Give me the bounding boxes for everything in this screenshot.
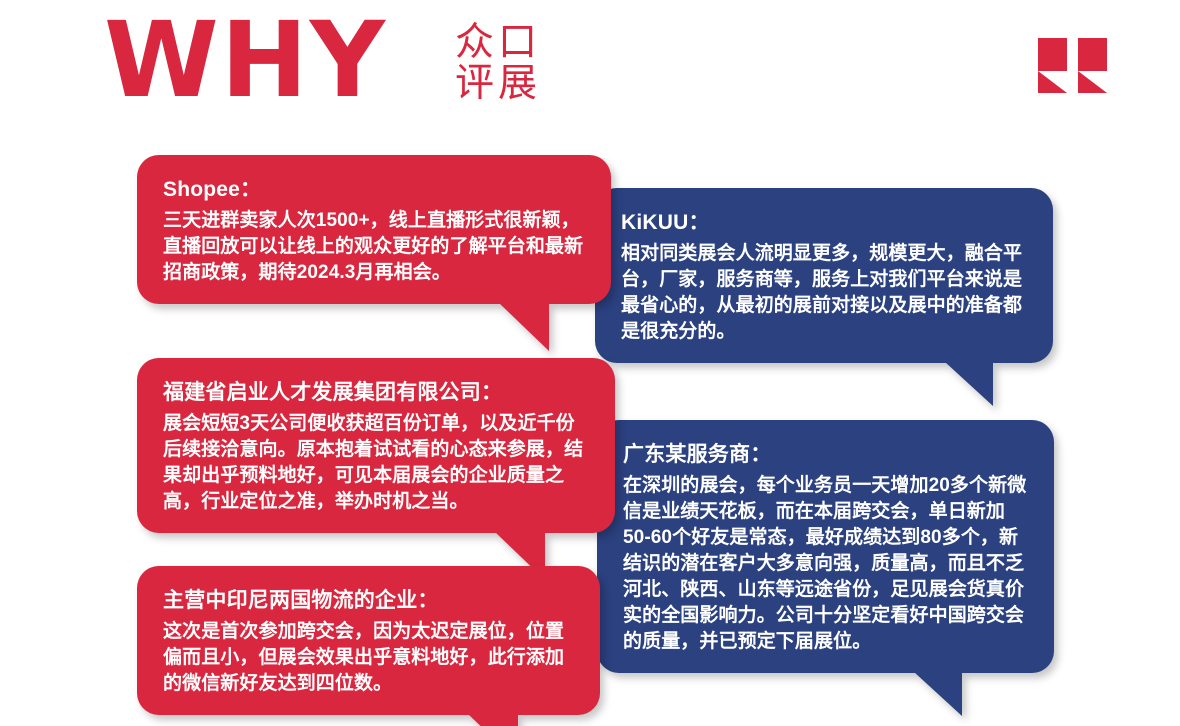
testimonial-title: Shopee：: [163, 175, 585, 205]
closing-quote-icon: [1038, 38, 1112, 94]
speech-tail-icon: [914, 672, 962, 716]
brand-subtitle-line-1: 众口: [455, 22, 565, 63]
testimonial-title: KiKUU：: [621, 208, 1027, 238]
testimonial-title: 主营中印尼两国物流的企业：: [163, 586, 574, 616]
testimonial-title: 广东某服务商：: [623, 440, 1028, 470]
testimonial-card-fujian: 福建省启业人才发展集团有限公司： 展会短短3天公司便收获超百份订单，以及近千份后…: [137, 358, 615, 533]
poster-header: WHY 众口 评展: [0, 0, 1180, 130]
quote-glyph-right: [1078, 38, 1107, 71]
brand-subtitle-line-2: 评展: [455, 63, 565, 104]
testimonial-title: 福建省启业人才发展集团有限公司：: [163, 378, 589, 408]
speech-tail-icon: [499, 303, 549, 351]
speech-tail-icon: [945, 362, 993, 406]
page-title: WHY: [104, 8, 387, 112]
testimonial-body: 三天进群卖家人次1500+，线上直播形式很新颖，直播回放可以让线上的观众更好的了…: [163, 208, 585, 286]
testimonial-body: 展会短短3天公司便收获超百份订单，以及近千份后续接洽意向。原本抱着试试看的心态来…: [163, 411, 589, 515]
testimonial-card-kikuu: KiKUU： 相对同类展会人流明显更多，规模更大，融合平台，厂家，服务商等，服务…: [595, 188, 1053, 363]
testimonial-body: 在深圳的展会，每个业务员一天增加20多个新微信是业绩天花板，而在本届跨交会，单日…: [623, 473, 1028, 655]
testimonial-poster: WHY 众口 评展 Shopee： 三天进群卖家人次1500+，线上直播形式很新…: [0, 0, 1180, 726]
testimonial-card-shopee: Shopee： 三天进群卖家人次1500+，线上直播形式很新颖，直播回放可以让线…: [137, 155, 611, 304]
testimonial-body: 这次是首次参加跨交会，因为太迟定展位，位置偏而且小，但展会效果出乎意料地好，此行…: [163, 619, 574, 697]
testimonial-card-logistics: 主营中印尼两国物流的企业： 这次是首次参加跨交会，因为太迟定展位，位置偏而且小，…: [137, 566, 600, 715]
testimonial-body: 相对同类展会人流明显更多，规模更大，融合平台，厂家，服务商等，服务上对我们平台来…: [621, 241, 1027, 345]
speech-tail-icon: [468, 714, 518, 726]
brand-subtitle-cn: 众口 评展: [455, 22, 565, 104]
testimonial-card-guangdong: 广东某服务商： 在深圳的展会，每个业务员一天增加20多个新微信是业绩天花板，而在…: [597, 420, 1054, 673]
quote-glyph-left: [1038, 38, 1067, 71]
